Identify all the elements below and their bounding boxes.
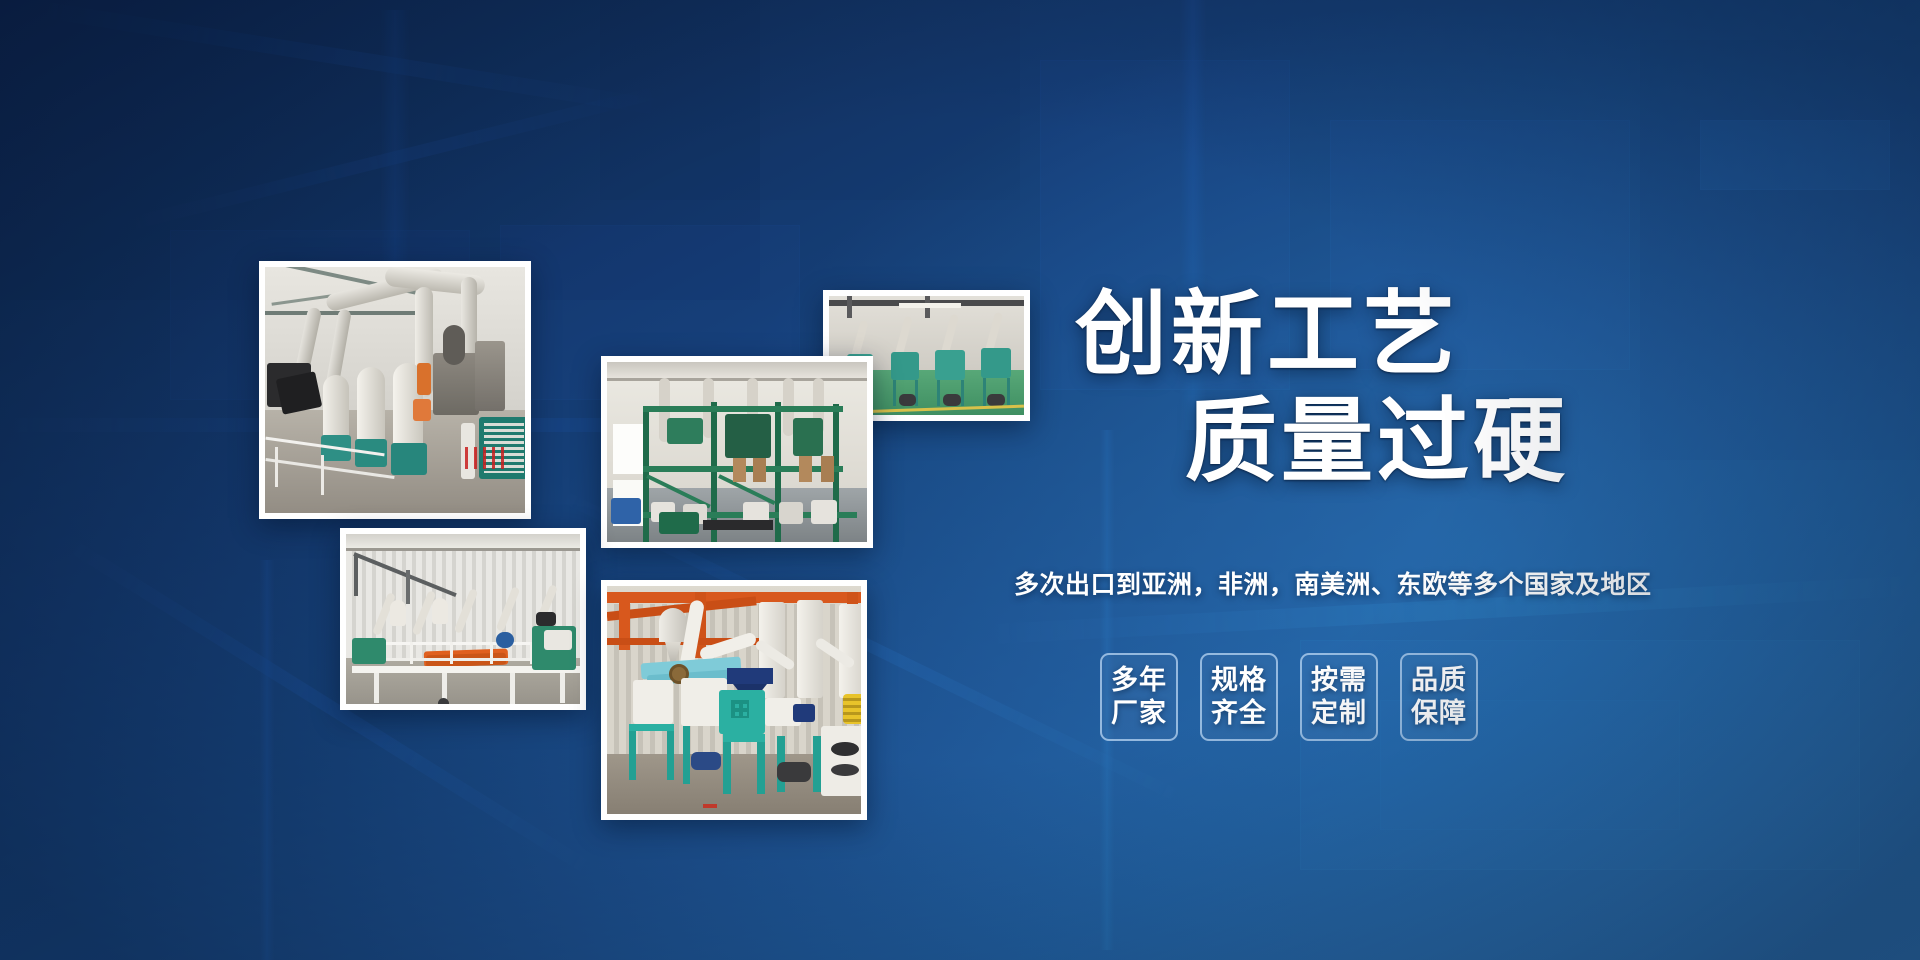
feature-badge-customization[interactable]: 按需 定制 [1300,653,1378,741]
feature-badge-specifications[interactable]: 规格 齐全 [1200,653,1278,741]
badge-line-bottom: 定制 [1311,697,1367,730]
photo-collage [0,0,1000,960]
feature-badge-quality[interactable]: 品质 保障 [1400,653,1478,741]
badge-line-bottom: 厂家 [1111,697,1167,730]
badge-line-top: 品质 [1411,664,1467,697]
photo-grain-milling-line-with-ducts [259,261,531,519]
photo-turquoise-mill-workshop [601,580,867,820]
photo-wide-milling-line-orange-conveyor [340,528,586,710]
feature-badge-experience[interactable]: 多年 厂家 [1100,653,1178,741]
badge-line-top: 规格 [1211,664,1267,697]
banner-content: 创新工艺 质量过硬 多次出口到亚洲，非洲，南美洲、东欧等多个国家及地区 多年 厂… [1000,0,1920,960]
badge-line-bottom: 齐全 [1211,697,1267,730]
subtitle: 多次出口到亚洲，非洲，南美洲、东欧等多个国家及地区 [1014,565,1652,601]
headline-line-2: 质量过硬 [1075,389,1569,496]
feature-badge-list: 多年 厂家 规格 齐全 按需 定制 品质 保障 [1100,653,1478,741]
badge-line-top: 按需 [1311,664,1367,697]
headline: 创新工艺 质量过硬 [1075,282,1569,495]
photo-green-frame-flour-plant [601,356,873,548]
badge-line-top: 多年 [1111,664,1167,697]
promo-banner: 创新工艺 质量过硬 多次出口到亚洲，非洲，南美洲、东欧等多个国家及地区 多年 厂… [0,0,1920,960]
badge-line-bottom: 保障 [1411,697,1467,730]
headline-line-1: 创新工艺 [1075,284,1459,386]
